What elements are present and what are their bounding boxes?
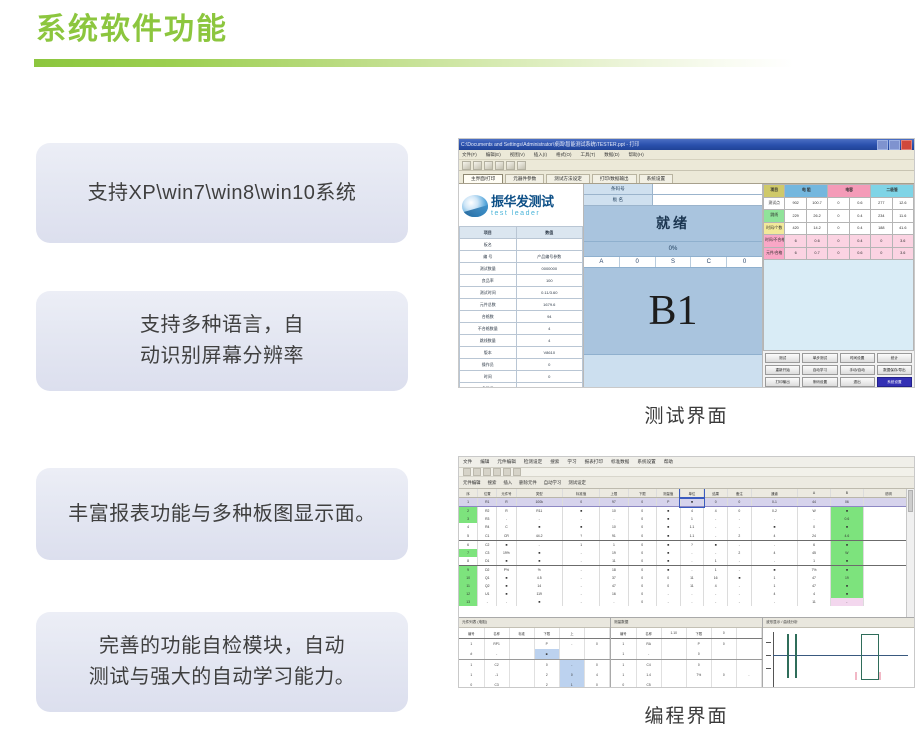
left-panel: 振华发测试 test leader 项目 数值 板名 编 号产品编号参数 测试数…: [459, 184, 584, 388]
cell: 188: [871, 222, 892, 235]
title-divider: [34, 59, 794, 67]
pane-body[interactable]: 编号名称标准下限上 1RP1P-0 #-■ 1C20-0 1-1204 0C32…: [459, 628, 610, 688]
menu-item[interactable]: 元件编辑: [497, 459, 515, 465]
table-row: 时间/个数 420 14.2 0 0.4 188 41.6: [764, 222, 914, 235]
column-header[interactable]: 下限: [628, 489, 656, 498]
column-header[interactable]: A: [798, 489, 831, 498]
table-row: 不合格数量4: [460, 323, 583, 335]
table-row: 1C20-0: [459, 660, 610, 671]
toolbar-item[interactable]: 删除元件: [519, 480, 537, 486]
pane-measure-data: 测量数据 编号名称1.10下限0 1RAP0 1-0 1C40 11.47%0-…: [611, 618, 763, 688]
feature-card-4: 完善的功能自检模块，自动 测试与强大的自动学习能力。: [36, 612, 408, 712]
table-header-row: 编号名称标准下限上: [459, 628, 610, 639]
table-row: 0C5: [611, 680, 762, 688]
pane-component-list: 元件列表 (电阻) 编号名称标准下限上 1RP1P-0 #-■ 1C20-0 1…: [459, 618, 611, 688]
cell: 跳线: [764, 210, 785, 223]
cell-val: V8610: [516, 347, 582, 359]
maximize-icon[interactable]: [889, 140, 900, 150]
table-row: 4R4C■■100■1.1--■0■: [459, 523, 914, 531]
tab-test-method[interactable]: 测试方法设定: [546, 174, 590, 183]
table-row: 条码号Test pass: [460, 383, 583, 389]
app-body: 振华发测试 test leader 项目 数值 板名 编 号产品编号参数 测试数…: [459, 184, 914, 388]
cell: 12.6: [892, 197, 913, 210]
feature-line: 测试与强大的自动学习能力。: [89, 662, 356, 693]
y-tick: [766, 668, 771, 669]
feature-line: 支持多种语言，自: [140, 310, 304, 341]
cell: 0.4: [849, 222, 870, 235]
manual-auto-button[interactable]: 手动/自动: [840, 365, 875, 375]
toolbar: [459, 160, 914, 171]
cell: 测试点: [764, 197, 785, 210]
table-row: 1RP1P-0: [459, 639, 610, 650]
column-header[interactable]: 通道: [751, 489, 797, 498]
table-row: 1RAP0: [611, 639, 762, 650]
cell: 11.6: [892, 210, 913, 223]
column-header: 二极管: [871, 185, 914, 198]
waveform-marker: [879, 672, 881, 680]
column-header: 项目: [764, 185, 785, 198]
cell-key: 版本: [460, 347, 517, 359]
cell: 0: [871, 235, 892, 248]
cell-key: 时间: [460, 371, 517, 383]
caption-programming-interface: 编程界面: [458, 701, 915, 728]
column-header[interactable]: 结果: [704, 489, 728, 498]
column-header[interactable]: 上限: [600, 489, 628, 498]
table-row: 操作员0: [460, 359, 583, 371]
column-header: 数值: [516, 227, 582, 239]
menu-item[interactable]: 格式(O): [556, 152, 572, 158]
cell-key: 跳线数量: [460, 335, 517, 347]
table-row: 良品率100: [460, 275, 583, 287]
statistics-button[interactable]: 统计: [877, 353, 912, 363]
cell-val: 4: [516, 323, 582, 335]
feature-card-3: 丰富报表功能与多种板图显示面。: [36, 468, 408, 560]
cell-val: 100: [516, 275, 582, 287]
system-setting-button[interactable]: 系统设置: [877, 377, 912, 387]
cell: 0.4: [849, 210, 870, 223]
column-header[interactable]: 单位: [680, 489, 704, 498]
menu-item[interactable]: 标准数据: [611, 459, 629, 465]
caption-test-interface: 测试界面: [458, 401, 915, 428]
app-window-programming: 文件 编辑 元件编辑 检测设定 搜索 学习 报表打印 标准数据 系统设置 帮助 …: [458, 456, 915, 688]
table-row: 测试点 902 100.7 0 0.6 277 12.6: [764, 197, 914, 210]
feature-text-4: 完善的功能自检模块，自动 测试与强大的自动学习能力。: [89, 631, 356, 693]
exit-button[interactable]: 退出: [840, 377, 875, 387]
auto-learn-button[interactable]: 自动学习: [802, 365, 837, 375]
table-row: 1C40: [611, 660, 762, 671]
save-icon[interactable]: [484, 161, 493, 170]
boardname-input[interactable]: [653, 195, 762, 205]
toolbar-item[interactable]: 测试设定: [568, 480, 586, 486]
code-row: A 0 S C 0: [584, 257, 762, 268]
tab-components[interactable]: 元器件参数: [505, 174, 544, 183]
center-panel: 条码号 板 名 就绪 0% A 0 S C 0 B1: [584, 184, 763, 388]
scroll-thumb[interactable]: [908, 490, 913, 512]
print-button[interactable]: 打印输出: [765, 377, 800, 387]
menu-item[interactable]: 文件(F): [462, 152, 477, 158]
new-icon[interactable]: [462, 161, 471, 170]
pane-body[interactable]: [763, 628, 914, 688]
table-row: 7C319%■-190■--2445W: [459, 549, 914, 557]
copy-icon[interactable]: [503, 468, 511, 476]
table-row: 10Q1■4.5-37001116■14719: [459, 574, 914, 582]
column-header[interactable]: 测量值: [656, 489, 680, 498]
table-row: 1-0: [611, 649, 762, 660]
cell-key: 良品率: [460, 275, 517, 287]
prog-toolbar-labels: 元件编辑 搜索 插入 删除元件 自动学习 测试设定: [459, 477, 914, 489]
table-row: 时间0: [460, 371, 583, 383]
cell-key: 编 号: [460, 251, 517, 263]
window-controls: [877, 140, 912, 150]
cell: 234: [871, 210, 892, 223]
cell: 0.4: [849, 235, 870, 248]
pane-title: 波形显示 / 曲线分析: [763, 618, 914, 628]
cell: 3.6: [892, 247, 913, 260]
column-header: 电容: [828, 185, 871, 198]
close-icon[interactable]: [901, 140, 912, 150]
serial-label: 条码号: [584, 184, 653, 194]
feature-text-1: 支持XP\win7\win8\win10系统: [88, 178, 357, 209]
table-header-row: 序 位置 元件号 类型 标准值 上限 下限 测量值 单位 结果 备注 通道 A …: [459, 489, 914, 498]
parameter-table: 项目 数值 板名 编 号产品编号参数 测试数量0000000 良品率100 测试…: [459, 226, 583, 388]
brand-logo: 振华发测试 test leader: [459, 184, 583, 226]
cell-val: 1679.6: [516, 299, 582, 311]
table-row: 跳线 229 26.2 0 0.4 234 11.6: [764, 210, 914, 223]
waveform-pulse: [861, 634, 879, 680]
cell-val: Test pass: [516, 383, 582, 389]
cell-key: 不合格数量: [460, 323, 517, 335]
window-titlebar: C:\Documents and Settings\Administrator\…: [459, 139, 914, 150]
component-grid[interactable]: 序 位置 元件号 类型 标准值 上限 下限 测量值 单位 结果 备注 通道 A …: [459, 489, 914, 617]
table-row: 2R2RR11■100■4400-2W■: [459, 507, 914, 516]
toolbar-item[interactable]: 元件编辑: [463, 480, 481, 486]
code-cell: 0: [620, 257, 656, 267]
menu-item[interactable]: 工具(T): [581, 152, 596, 158]
cell: 6: [785, 247, 806, 260]
menu-item[interactable]: 视图(V): [510, 152, 525, 158]
cell-val: 94: [516, 311, 582, 323]
toolbar-item[interactable]: 搜索: [488, 480, 497, 486]
cell: 0.6: [806, 235, 827, 248]
toolbar-item[interactable]: 插入: [503, 480, 512, 486]
cell: 6: [785, 235, 806, 248]
table-row: 时间/不合格 6 0.6 0 0.4 0 3.6: [764, 235, 914, 248]
result-table: 项目 电 阻 电容 二极管 测试点 902 100.7 0 0.6 277 12…: [763, 184, 914, 260]
cell-val: 0000000: [516, 263, 582, 275]
table-row: 13--■--0-----11-: [459, 598, 914, 606]
cell-val: 产品编号参数: [516, 251, 582, 263]
cell: 26.2: [806, 210, 827, 223]
feature-line: 丰富报表功能与多种板图显示面。: [68, 499, 376, 530]
menu-item[interactable]: 数据(D): [604, 152, 619, 158]
barcode-setting-button[interactable]: 条码设置: [802, 377, 837, 387]
cell: 902: [785, 197, 806, 210]
cell: 时间/个数: [764, 222, 785, 235]
logo-icon: [462, 195, 488, 217]
cell-key: 操作员: [460, 359, 517, 371]
cell: 0.7: [806, 247, 827, 260]
feature-line: 动识别屏幕分辨率: [140, 341, 304, 372]
feature-text-2: 支持多种语言，自 动识别屏幕分辨率: [140, 310, 304, 372]
table-header-row: 项目 电 阻 电容 二极管: [764, 185, 914, 198]
log-area: [584, 355, 762, 388]
cell-key: 合格数: [460, 311, 517, 323]
table-row: 11Q2■14-4700114-147■: [459, 582, 914, 590]
progress-text: 0%: [584, 242, 762, 257]
cell-val: 0: [516, 359, 582, 371]
table-row: 测试时间0.11/3.60: [460, 287, 583, 299]
cell: 420: [785, 222, 806, 235]
column-header[interactable]: 类型: [516, 489, 562, 498]
brand-texts: 振华发测试 test leader: [491, 195, 554, 217]
tab-settings[interactable]: 系统设置: [639, 174, 673, 183]
code-cell: S: [656, 257, 692, 267]
status-text: 就绪: [584, 206, 762, 242]
table-header-row: 编号名称1.10下限0: [611, 628, 762, 639]
tab-output[interactable]: 打印/数据输出: [592, 174, 637, 183]
restart-button[interactable]: 重新开始: [765, 365, 800, 375]
table-row: 1R1R100k0970P■000-14406: [459, 498, 914, 507]
y-tick: [766, 655, 771, 656]
table-row: 板名: [460, 239, 583, 251]
serial-input[interactable]: [653, 184, 762, 194]
boardname-label: 板 名: [584, 195, 653, 205]
feature-line: 完善的功能自检模块，自动: [89, 631, 356, 662]
table-row: 8D1■■-110■-1--1■: [459, 557, 914, 566]
feature-text-3: 丰富报表功能与多种板图显示面。: [68, 499, 376, 530]
feature-line: 支持XP\win7\win8\win10系统: [88, 178, 357, 209]
cell-val: [516, 239, 582, 251]
cell: 0.6: [849, 197, 870, 210]
code-cell: C: [691, 257, 727, 267]
pane-title: 测量数据: [611, 618, 762, 628]
cell: 0: [828, 197, 849, 210]
cell: 0.6: [849, 247, 870, 260]
pane-title: 元件列表 (电阻): [459, 618, 610, 628]
table-row: 0C3210: [459, 680, 610, 688]
column-header: 电 阻: [785, 185, 828, 198]
table-row: 元件总数1679.6: [460, 299, 583, 311]
cell: 229: [785, 210, 806, 223]
cell: 0: [828, 235, 849, 248]
cell-key: 条码号: [460, 383, 517, 389]
table-row: 9D2P%%-180■-1-■7%■: [459, 565, 914, 574]
page-title: 系统软件功能: [36, 12, 228, 48]
right-panel: 项目 电 阻 电容 二极管 测试点 902 100.7 0 0.6 277 12…: [763, 184, 914, 388]
mini-table: 编号名称1.10下限0 1RAP0 1-0 1C40 11.47%0- 0C5: [611, 628, 762, 688]
menu-item[interactable]: 帮助: [664, 459, 673, 465]
table-row: 元件/合格 6 0.7 0 0.6 0 3.6: [764, 247, 914, 260]
menu-item[interactable]: 编辑(E): [486, 152, 501, 158]
table-row: 跳线数量4: [460, 335, 583, 347]
brand-name-en: test leader: [491, 210, 554, 217]
cell: 100.7: [806, 197, 827, 210]
open-icon[interactable]: [473, 161, 482, 170]
table-row: 12U1■119-160----44■: [459, 590, 914, 598]
toolbar-item[interactable]: 自动学习: [544, 480, 562, 486]
menu-item[interactable]: 学习: [567, 459, 576, 465]
code-cell: A: [584, 257, 620, 267]
pane-body[interactable]: 编号名称1.10下限0 1RAP0 1-0 1C40 11.47%0- 0C5: [611, 628, 762, 688]
menu-item[interactable]: 检测设定: [524, 459, 542, 465]
menu-item[interactable]: 文件: [463, 459, 472, 465]
table-row: 版本V8610: [460, 347, 583, 359]
paste-icon[interactable]: [513, 468, 521, 476]
action-buttons: 测试 单步测试 时间设置 统计 重新开始 自动学习 手动/自动 数据保存/导出 …: [763, 351, 914, 388]
grid-scrollbar[interactable]: [906, 489, 914, 617]
detail-list[interactable]: [763, 260, 914, 351]
table-row: 6C2■-110■?■--6■: [459, 540, 914, 549]
menu-item[interactable]: 报表打印: [585, 459, 603, 465]
brand-name-cn: 振华发测试: [491, 195, 554, 208]
cell: 0: [828, 247, 849, 260]
bottom-panes: 元件列表 (电阻) 编号名称标准下限上 1RP1P-0 #-■ 1C20-0 1…: [459, 617, 914, 688]
window-title-text: C:\Documents and Settings\Administrator\…: [461, 141, 877, 149]
cell-key: 板名: [460, 239, 517, 251]
column-header[interactable]: 元件号: [497, 489, 516, 498]
undo-icon[interactable]: [506, 161, 515, 170]
feature-card-2: 支持多种语言，自 动识别屏幕分辨率: [36, 291, 408, 391]
tab-main[interactable]: 主界面/打印: [463, 174, 503, 183]
menu-item[interactable]: 搜索: [550, 459, 559, 465]
feature-card-1: 支持XP\win7\win8\win10系统: [36, 143, 408, 243]
table-row: 3R3----0■1----0.6: [459, 515, 914, 523]
table-row: 编 号产品编号参数: [460, 251, 583, 263]
data-export-button[interactable]: 数据保存/导出: [877, 365, 912, 375]
tabstrip: 主界面/打印 元器件参数 测试方法设定 打印/数据输出 系统设置: [459, 171, 914, 184]
cell-val: 4: [516, 335, 582, 347]
minimize-icon[interactable]: [877, 140, 888, 150]
boardname-row: 板 名: [584, 195, 762, 206]
cell: 元件/合格: [764, 247, 785, 260]
cell-key: 元件总数: [460, 299, 517, 311]
menu-item[interactable]: 帮助(H): [629, 152, 644, 158]
cell-key: 测试数量: [460, 263, 517, 275]
cell: 14.2: [806, 222, 827, 235]
waveform-bar: [795, 634, 797, 678]
print-icon[interactable]: [495, 161, 504, 170]
column-header[interactable]: 备注: [728, 489, 752, 498]
table-row: 测试数量0000000: [460, 263, 583, 275]
time-setting-button[interactable]: 时间设置: [840, 353, 875, 363]
step-test-button[interactable]: 单步测试: [802, 353, 837, 363]
menu-item[interactable]: 编辑: [480, 459, 489, 465]
cell: 0: [828, 210, 849, 223]
x-axis: [773, 655, 908, 656]
table-row: 5C1CR44.2?910■1.1-24244.6: [459, 531, 914, 540]
open-icon[interactable]: [473, 468, 481, 476]
cell-key: 测试时间: [460, 287, 517, 299]
y-tick: [766, 642, 771, 643]
save-icon[interactable]: [483, 468, 491, 476]
column-header[interactable]: B: [830, 489, 863, 498]
grid-table: 序 位置 元件号 类型 标准值 上限 下限 测量值 单位 结果 备注 通道 A …: [459, 489, 914, 606]
waveform-chart: [763, 628, 914, 688]
cut-icon[interactable]: [493, 468, 501, 476]
cell-val: 0: [516, 371, 582, 383]
cell: 277: [871, 197, 892, 210]
settings-icon[interactable]: [517, 161, 526, 170]
mini-table: 编号名称标准下限上 1RP1P-0 #-■ 1C20-0 1-1204 0C32…: [459, 628, 610, 688]
screenshot-test-interface: C:\Documents and Settings\Administrator\…: [458, 138, 915, 428]
code-cell: 0: [727, 257, 762, 267]
menubar: 文件(F) 编辑(E) 视图(V) 插入(I) 格式(O) 工具(T) 数据(D…: [459, 150, 914, 160]
table-row: 合格数94: [460, 311, 583, 323]
prog-toolbar-icons: [459, 468, 914, 477]
cell: 0: [828, 222, 849, 235]
test-button[interactable]: 测试: [765, 353, 800, 363]
serial-row: 条码号: [584, 184, 762, 195]
column-header[interactable]: 位置: [478, 489, 497, 498]
board-code-display: B1: [584, 268, 762, 355]
table-header-row: 项目 数值: [460, 227, 583, 239]
prog-menubar: 文件 编辑 元件编辑 检测设定 搜索 学习 报表打印 标准数据 系统设置 帮助: [459, 457, 914, 468]
new-icon[interactable]: [463, 468, 471, 476]
pane-waveform: 波形显示 / 曲线分析: [763, 618, 914, 688]
menu-item[interactable]: 插入(I): [534, 152, 547, 158]
cell: 41.6: [892, 222, 913, 235]
table-row: 1-1204: [459, 670, 610, 680]
waveform-bar: [787, 634, 789, 678]
column-header[interactable]: 标准值: [562, 489, 599, 498]
y-axis: [773, 632, 774, 687]
table-row: 11.47%0-: [611, 670, 762, 680]
app-window-test: C:\Documents and Settings\Administrator\…: [458, 138, 915, 388]
cell: 时间/不合格: [764, 235, 785, 248]
table-row: #-■: [459, 649, 610, 660]
column-header[interactable]: 序: [459, 489, 478, 498]
column-header: 项目: [460, 227, 517, 239]
waveform-marker: [855, 672, 857, 680]
cell: 3.6: [892, 235, 913, 248]
menu-item[interactable]: 系统设置: [637, 459, 655, 465]
screenshot-programming-interface: 文件 编辑 元件编辑 检测设定 搜索 学习 报表打印 标准数据 系统设置 帮助 …: [458, 456, 915, 728]
cell: 0: [871, 247, 892, 260]
cell-val: 0.11/3.60: [516, 287, 582, 299]
